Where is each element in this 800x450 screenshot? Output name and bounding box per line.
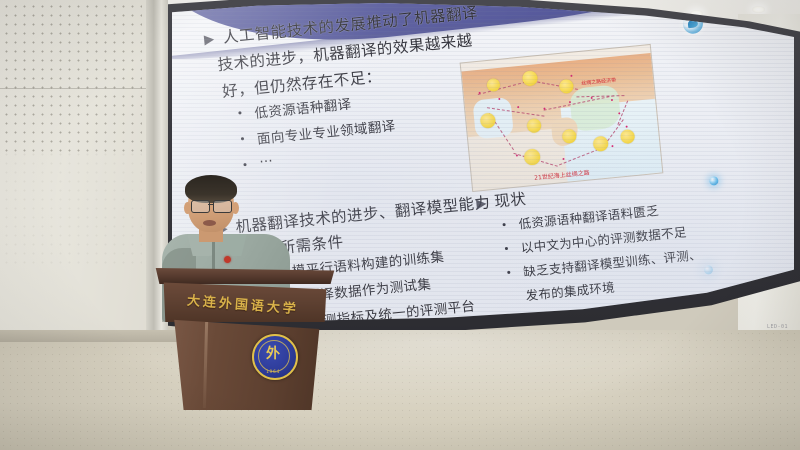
speaker-hair [185,175,237,203]
bullet-dot [238,111,241,114]
glasses-icon [191,200,210,213]
speaker-mouth [203,220,216,226]
lapel-pin [224,256,231,263]
university-emblem: 外 1964 [252,334,298,380]
arrow-bullet-icon [204,35,215,46]
podium-top-surface [152,268,338,284]
slide-heading: 现状 [493,187,527,212]
glasses-bridge [208,204,213,205]
bullet-dot [505,247,508,250]
arrow-bullet-icon [476,199,487,210]
map-region-label [526,118,541,133]
speaker-ear [232,202,239,214]
perforation-pattern [2,150,142,270]
perforation-pattern [2,2,142,152]
slide-bullet: … [258,149,273,166]
slide-bullet: 发布的集成环境 [525,277,616,305]
floor-sheen [0,330,800,450]
bullet-dot [502,223,505,226]
bullet-dot [241,137,244,140]
podium-body [168,318,324,410]
emblem-glyph: 外 [254,343,292,363]
lecture-hall-photo: 人工智能技术的发展推动了机器翻译 技术的进步，机器翻译的效果越来越 好，但仍然存… [0,0,800,450]
speaker-ear [184,202,191,214]
cursor-highlight-dot [709,176,719,186]
belt-and-road-map: 丝绸之路经济带 21世纪海上丝绸之路 [460,44,664,192]
bullet-dot [243,163,246,166]
glasses-icon [213,200,232,213]
bullet-dot [507,271,510,274]
panel-seam [0,88,152,89]
podium: 大连外国语大学 外 1964 [152,268,338,408]
cursor-highlight-dot [704,265,714,275]
emblem-year: 1964 [254,370,292,375]
map-region-label [523,148,540,165]
